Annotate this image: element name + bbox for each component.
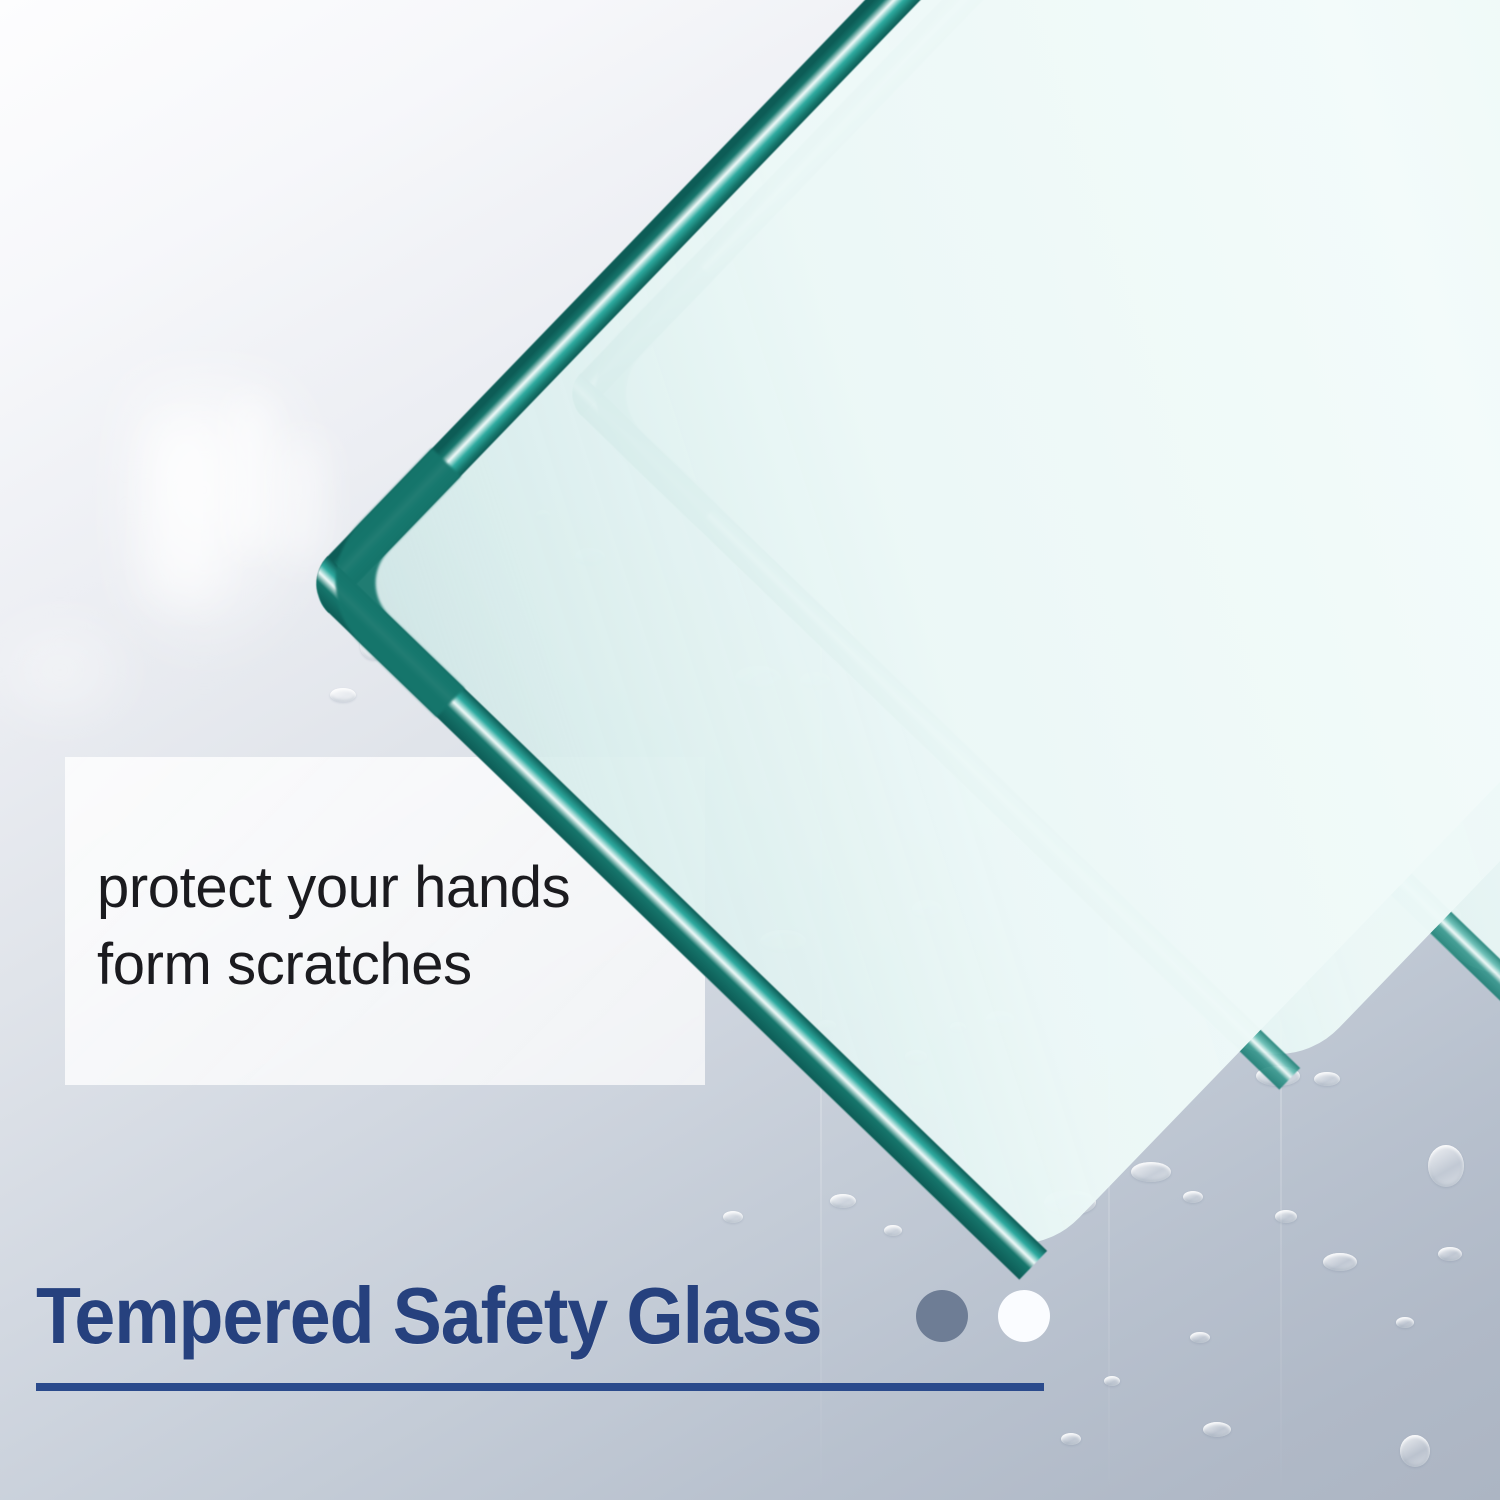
water-droplet [1400, 1435, 1430, 1467]
water-droplet [1428, 1145, 1464, 1187]
water-droplet [830, 1194, 856, 1208]
headline-underline [36, 1383, 1044, 1391]
water-droplet [1190, 1332, 1210, 1343]
water-droplet [1438, 1247, 1462, 1261]
water-droplet [330, 688, 356, 702]
water-droplet [1275, 1210, 1297, 1223]
headline-row: Tempered Safety Glass [36, 1276, 1050, 1356]
water-droplet [723, 1211, 743, 1223]
pagination-dot-active[interactable] [916, 1290, 968, 1342]
water-droplet [1203, 1422, 1231, 1437]
pagination-dot-inactive[interactable] [998, 1290, 1050, 1342]
page-title: Tempered Safety Glass [36, 1276, 821, 1356]
water-droplet [1131, 1162, 1171, 1182]
water-droplet [1183, 1191, 1203, 1203]
water-droplet [1396, 1317, 1414, 1328]
water-droplet [1104, 1376, 1120, 1386]
water-droplet [1314, 1072, 1340, 1086]
water-droplet [1323, 1253, 1357, 1271]
product-banner: protect your hands form scratches Temper… [0, 0, 1500, 1500]
water-droplet [884, 1225, 902, 1236]
water-droplet [1061, 1433, 1081, 1445]
